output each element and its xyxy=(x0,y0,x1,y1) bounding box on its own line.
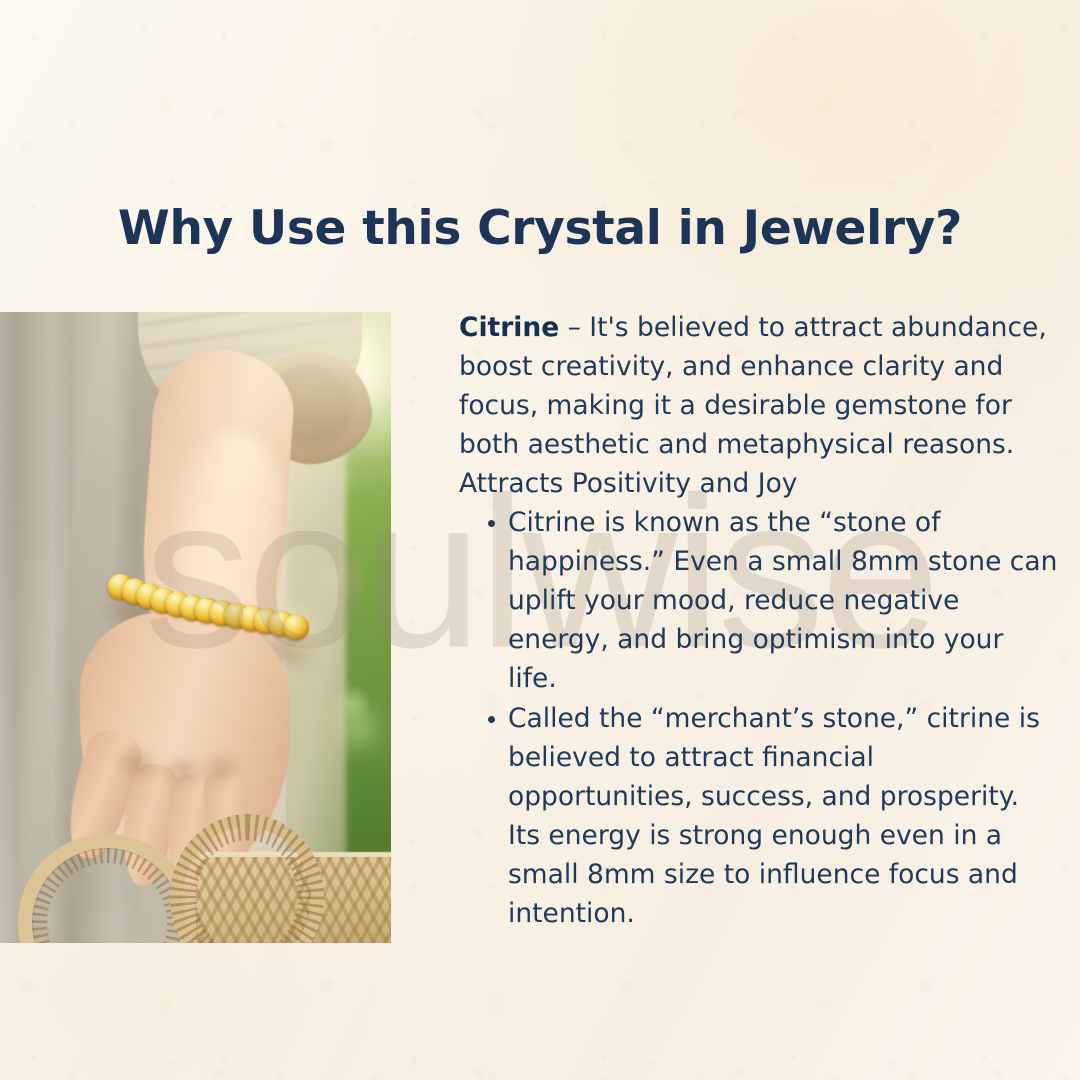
knuckle-shadow-1 xyxy=(120,752,154,776)
list-item-text: Called the “merchant’s stone,” citrine i… xyxy=(508,703,1040,929)
benefits-list: Citrine is known as the “stone of happin… xyxy=(459,503,1059,933)
content-column: Citrine – It's believed to attract abund… xyxy=(459,308,1059,933)
knuckle-shadow-2 xyxy=(166,760,198,782)
list-item-text: Citrine is known as the “stone of happin… xyxy=(508,507,1057,694)
subheading: Attracts Positivity and Joy xyxy=(459,464,1059,503)
citrine-lead-label: Citrine xyxy=(459,312,559,343)
slide-canvas: soulwise Why Use this Crystal in Jewelry… xyxy=(0,0,1080,1080)
page-title: Why Use this Crystal in Jewelry? xyxy=(0,201,1080,256)
bullet-dot-icon xyxy=(488,520,495,527)
knuckle-shadow-3 xyxy=(206,758,236,780)
list-item: Citrine is known as the “stone of happin… xyxy=(508,503,1059,698)
list-item: Called the “merchant’s stone,” citrine i… xyxy=(508,699,1059,933)
citrine-bracelet-photo xyxy=(0,312,391,943)
bullet-dot-icon xyxy=(488,716,495,723)
intro-paragraph: Citrine – It's believed to attract abund… xyxy=(459,308,1059,464)
